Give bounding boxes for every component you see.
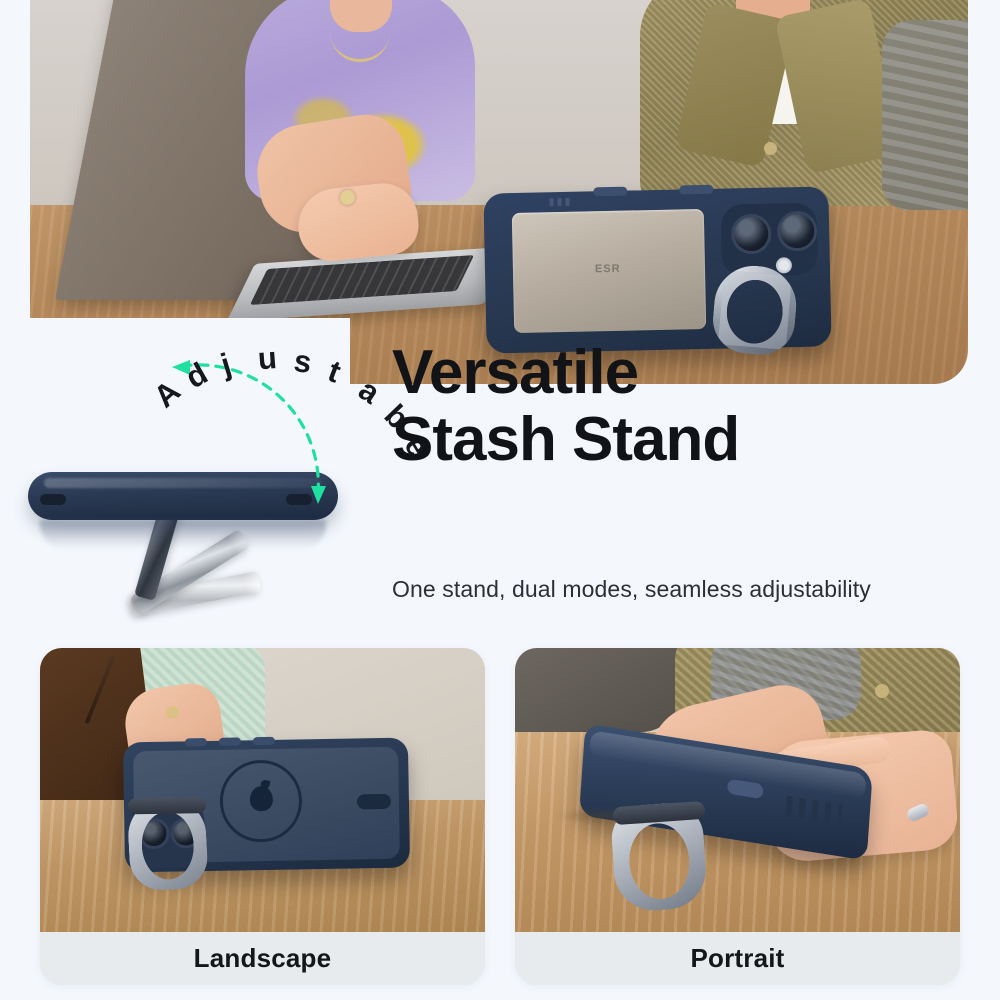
arc-letter: d (180, 355, 214, 396)
hero-power-button (679, 185, 713, 195)
adjustable-callout: Adjustabe (150, 318, 390, 548)
adjustable-label: Adjustabe (150, 318, 390, 548)
landscape-button-2 (219, 737, 241, 745)
page-subtitle: One stand, dual modes, seamless adjustab… (392, 576, 992, 603)
landscape-button-1 (185, 738, 207, 746)
landscape-button-3 (253, 737, 275, 745)
headline-line-2: Stash Stand (392, 407, 992, 474)
landscape-finger-ring (166, 706, 179, 719)
feature-content-area: Adjustabe Versatile Stash Stand One stan… (0, 318, 1000, 648)
page-title: Versatile Stash Stand (392, 340, 992, 474)
woman-finger-ring (340, 190, 355, 205)
landscape-kickstand-hinge (128, 797, 206, 814)
portrait-photo (515, 648, 960, 932)
man-jacket-button (764, 142, 777, 155)
landscape-caption: Landscape (40, 932, 485, 985)
portrait-caption: Portrait (515, 932, 960, 985)
stand-notch-left (40, 494, 66, 505)
arc-letter: u (257, 340, 279, 377)
arc-letter: A (147, 373, 188, 415)
landscape-side-pill (357, 794, 391, 810)
landscape-phone-case (123, 738, 410, 873)
arc-letter: t (323, 353, 346, 390)
arc-letter: j (217, 346, 236, 383)
portrait-dark-corner (515, 648, 681, 732)
apple-logo-icon (250, 786, 273, 811)
headline-line-1: Versatile (392, 338, 638, 407)
arc-letter: s (292, 343, 314, 381)
panel-portrait: Portrait (515, 648, 960, 985)
hero-volume-button (593, 187, 627, 197)
product-feature-page: ESR (0, 0, 1000, 1000)
man-sleeve (882, 20, 968, 210)
esr-brand-mark: ESR (595, 263, 621, 276)
arc-letter: a (352, 372, 386, 412)
landscape-photo (40, 648, 485, 932)
hero-speaker-grille (549, 198, 569, 206)
portrait-jacket-button (875, 684, 889, 698)
panel-landscape: Landscape (40, 648, 485, 985)
